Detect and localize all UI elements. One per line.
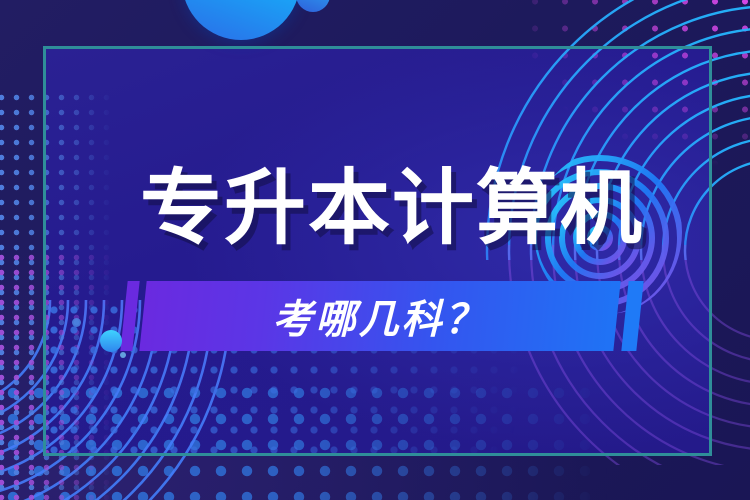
band-accent-bar-right [621,281,643,351]
bubble-circle-icon [100,330,122,352]
bubble-circle-small-icon [72,318,81,327]
poster-banner: 专升本计算机 考哪几科？ [0,0,750,500]
band-accent-bar-left [120,281,139,351]
bubble-dot-icon [120,352,126,358]
subtitle-banner: 考哪几科？ [0,0,750,500]
subtitle-text: 考哪几科？ [143,281,617,351]
